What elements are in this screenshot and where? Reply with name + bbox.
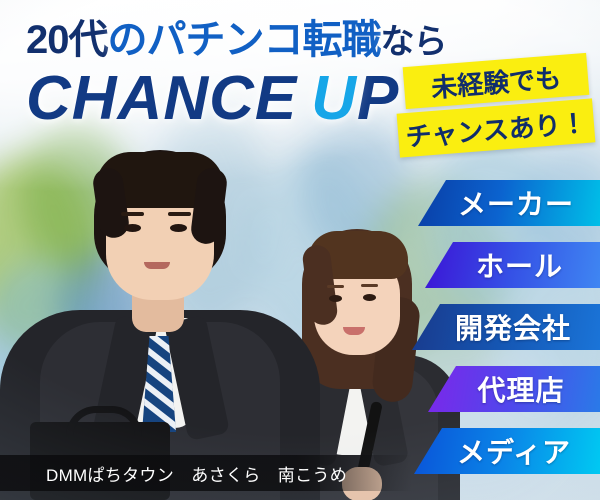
- headline-age: 20代: [26, 18, 108, 62]
- credit-bar: DMMぱちタウン あさくら 南こうめ: [0, 455, 412, 491]
- category-tag-agency[interactable]: 代理店: [428, 366, 600, 412]
- advertisement-banner[interactable]: 20代のパチンコ転職なら CHANCEUP 未経験でも チャンスあり！ メーカー…: [0, 0, 600, 500]
- headline-topic: のパチンコ転職: [108, 18, 381, 62]
- category-tag-media[interactable]: メディア: [414, 428, 600, 474]
- logo-word-chance: CHANCE: [26, 64, 297, 133]
- category-tag-label: 代理店: [428, 369, 600, 409]
- headline-tail: なら: [381, 23, 447, 61]
- category-tag-label: メーカー: [418, 183, 600, 223]
- headline: 20代のパチンコ転職なら: [26, 20, 456, 60]
- logo-letter-u: U: [311, 64, 357, 133]
- category-tag-label: ホール: [425, 245, 600, 285]
- logo-letter-p: P: [357, 64, 399, 133]
- category-tag-hall[interactable]: ホール: [425, 242, 600, 288]
- category-tag-maker[interactable]: メーカー: [418, 180, 600, 226]
- category-tag-label: メディア: [414, 431, 600, 471]
- category-tag-label: 開発会社: [412, 307, 600, 347]
- credit-text: DMMぱちタウン あさくら 南こうめ: [0, 461, 347, 486]
- ribbon-label-1: 未経験でも: [430, 57, 563, 104]
- category-tag-developer[interactable]: 開発会社: [412, 304, 600, 350]
- chance-up-logo: CHANCEUP: [26, 68, 399, 130]
